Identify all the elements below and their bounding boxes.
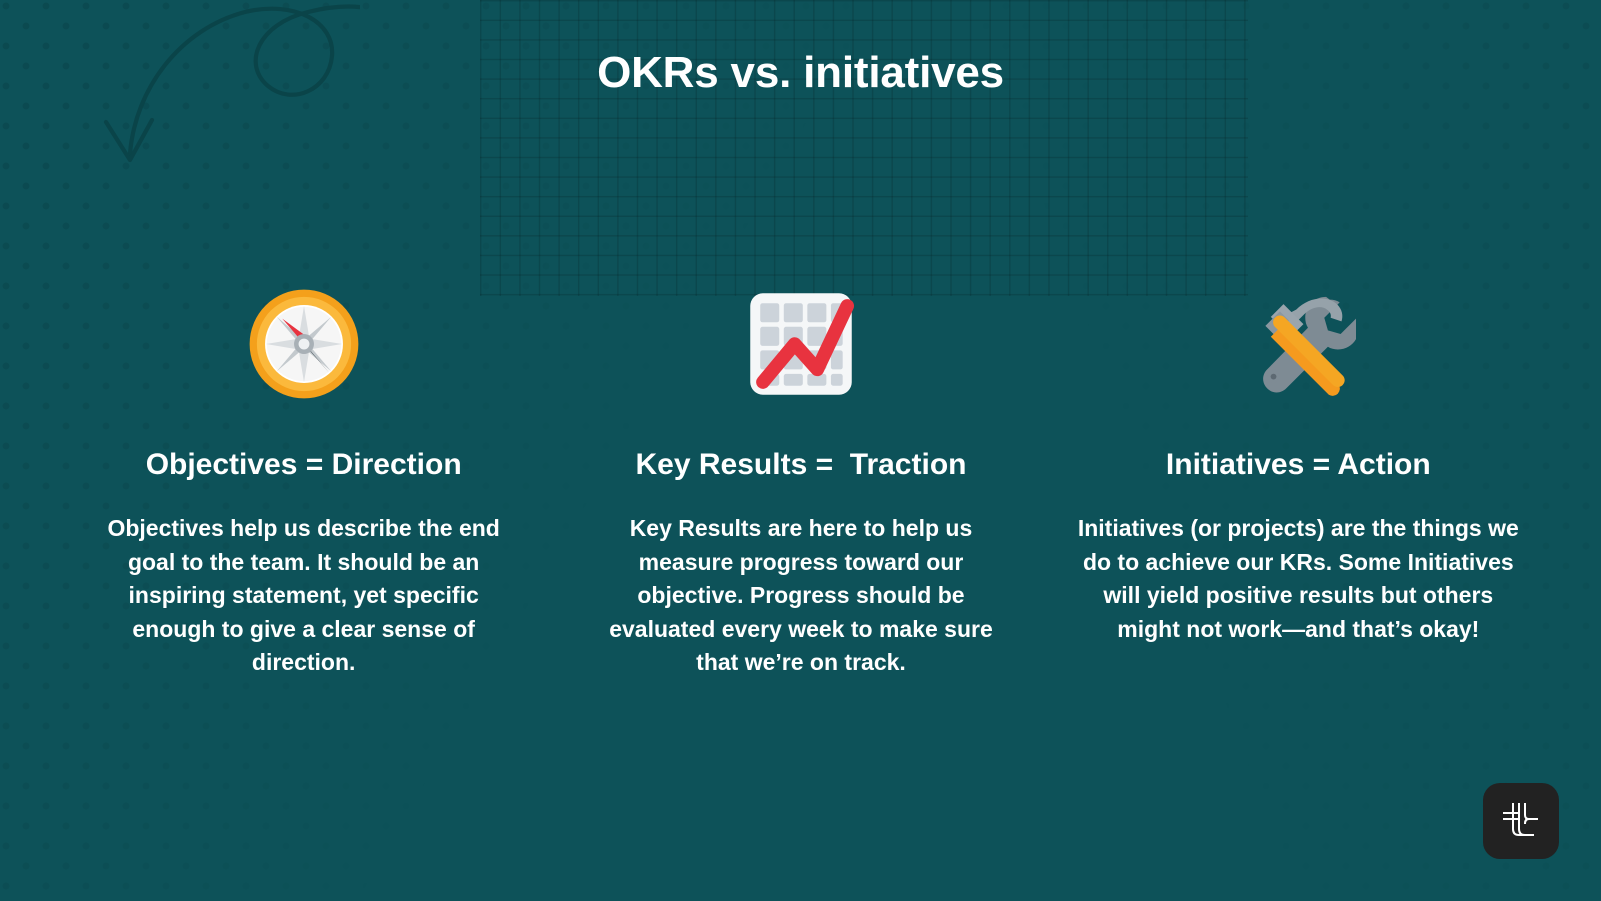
background-grid-pattern (480, 0, 1248, 296)
column-heading-initiatives: Initiatives = Action (1166, 447, 1431, 483)
column-key-results: Key Results = Traction Key Results are h… (552, 286, 1049, 680)
column-heading-key-results: Key Results = Traction (636, 447, 967, 483)
brand-logo-icon (1499, 799, 1543, 843)
hammer-and-wrench-icon (1240, 286, 1356, 402)
columns-container: Objectives = Direction Objectives help u… (55, 286, 1547, 680)
column-body-initiatives: Initiatives (or projects) are the things… (1076, 512, 1520, 646)
compass-icon (246, 286, 362, 402)
brand-logo-badge[interactable] (1483, 783, 1559, 859)
column-body-key-results: Key Results are here to help us measure … (595, 512, 1007, 680)
chart-increasing-icon (743, 286, 859, 402)
column-body-objectives: Objectives help us describe the end goal… (98, 512, 510, 680)
column-heading-objectives: Objectives = Direction (146, 447, 462, 483)
column-initiatives: Initiatives = Action Initiatives (or pro… (1050, 286, 1547, 680)
column-objectives: Objectives = Direction Objectives help u… (55, 286, 552, 680)
page-title: OKRs vs. initiatives (0, 48, 1601, 98)
